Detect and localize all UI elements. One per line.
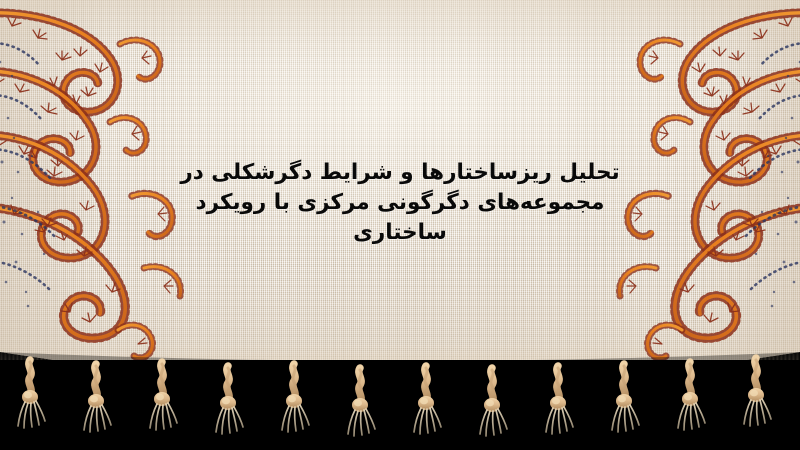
- title-line-3: ساختاری: [180, 218, 620, 248]
- title-line-1: تحلیل ریزساختارها و شرایط دگرشکلی در: [180, 158, 620, 188]
- tassel-fringe-icon: [0, 344, 800, 450]
- slide-canvas: تحلیل ریزساختارها و شرایط دگرشکلی در مجم…: [0, 0, 800, 450]
- title-line-2: مجموعه‌های دگرگونی مرکزی با رویکرد: [180, 188, 620, 218]
- slide-title: تحلیل ریزساختارها و شرایط دگرشکلی در مجم…: [180, 158, 620, 248]
